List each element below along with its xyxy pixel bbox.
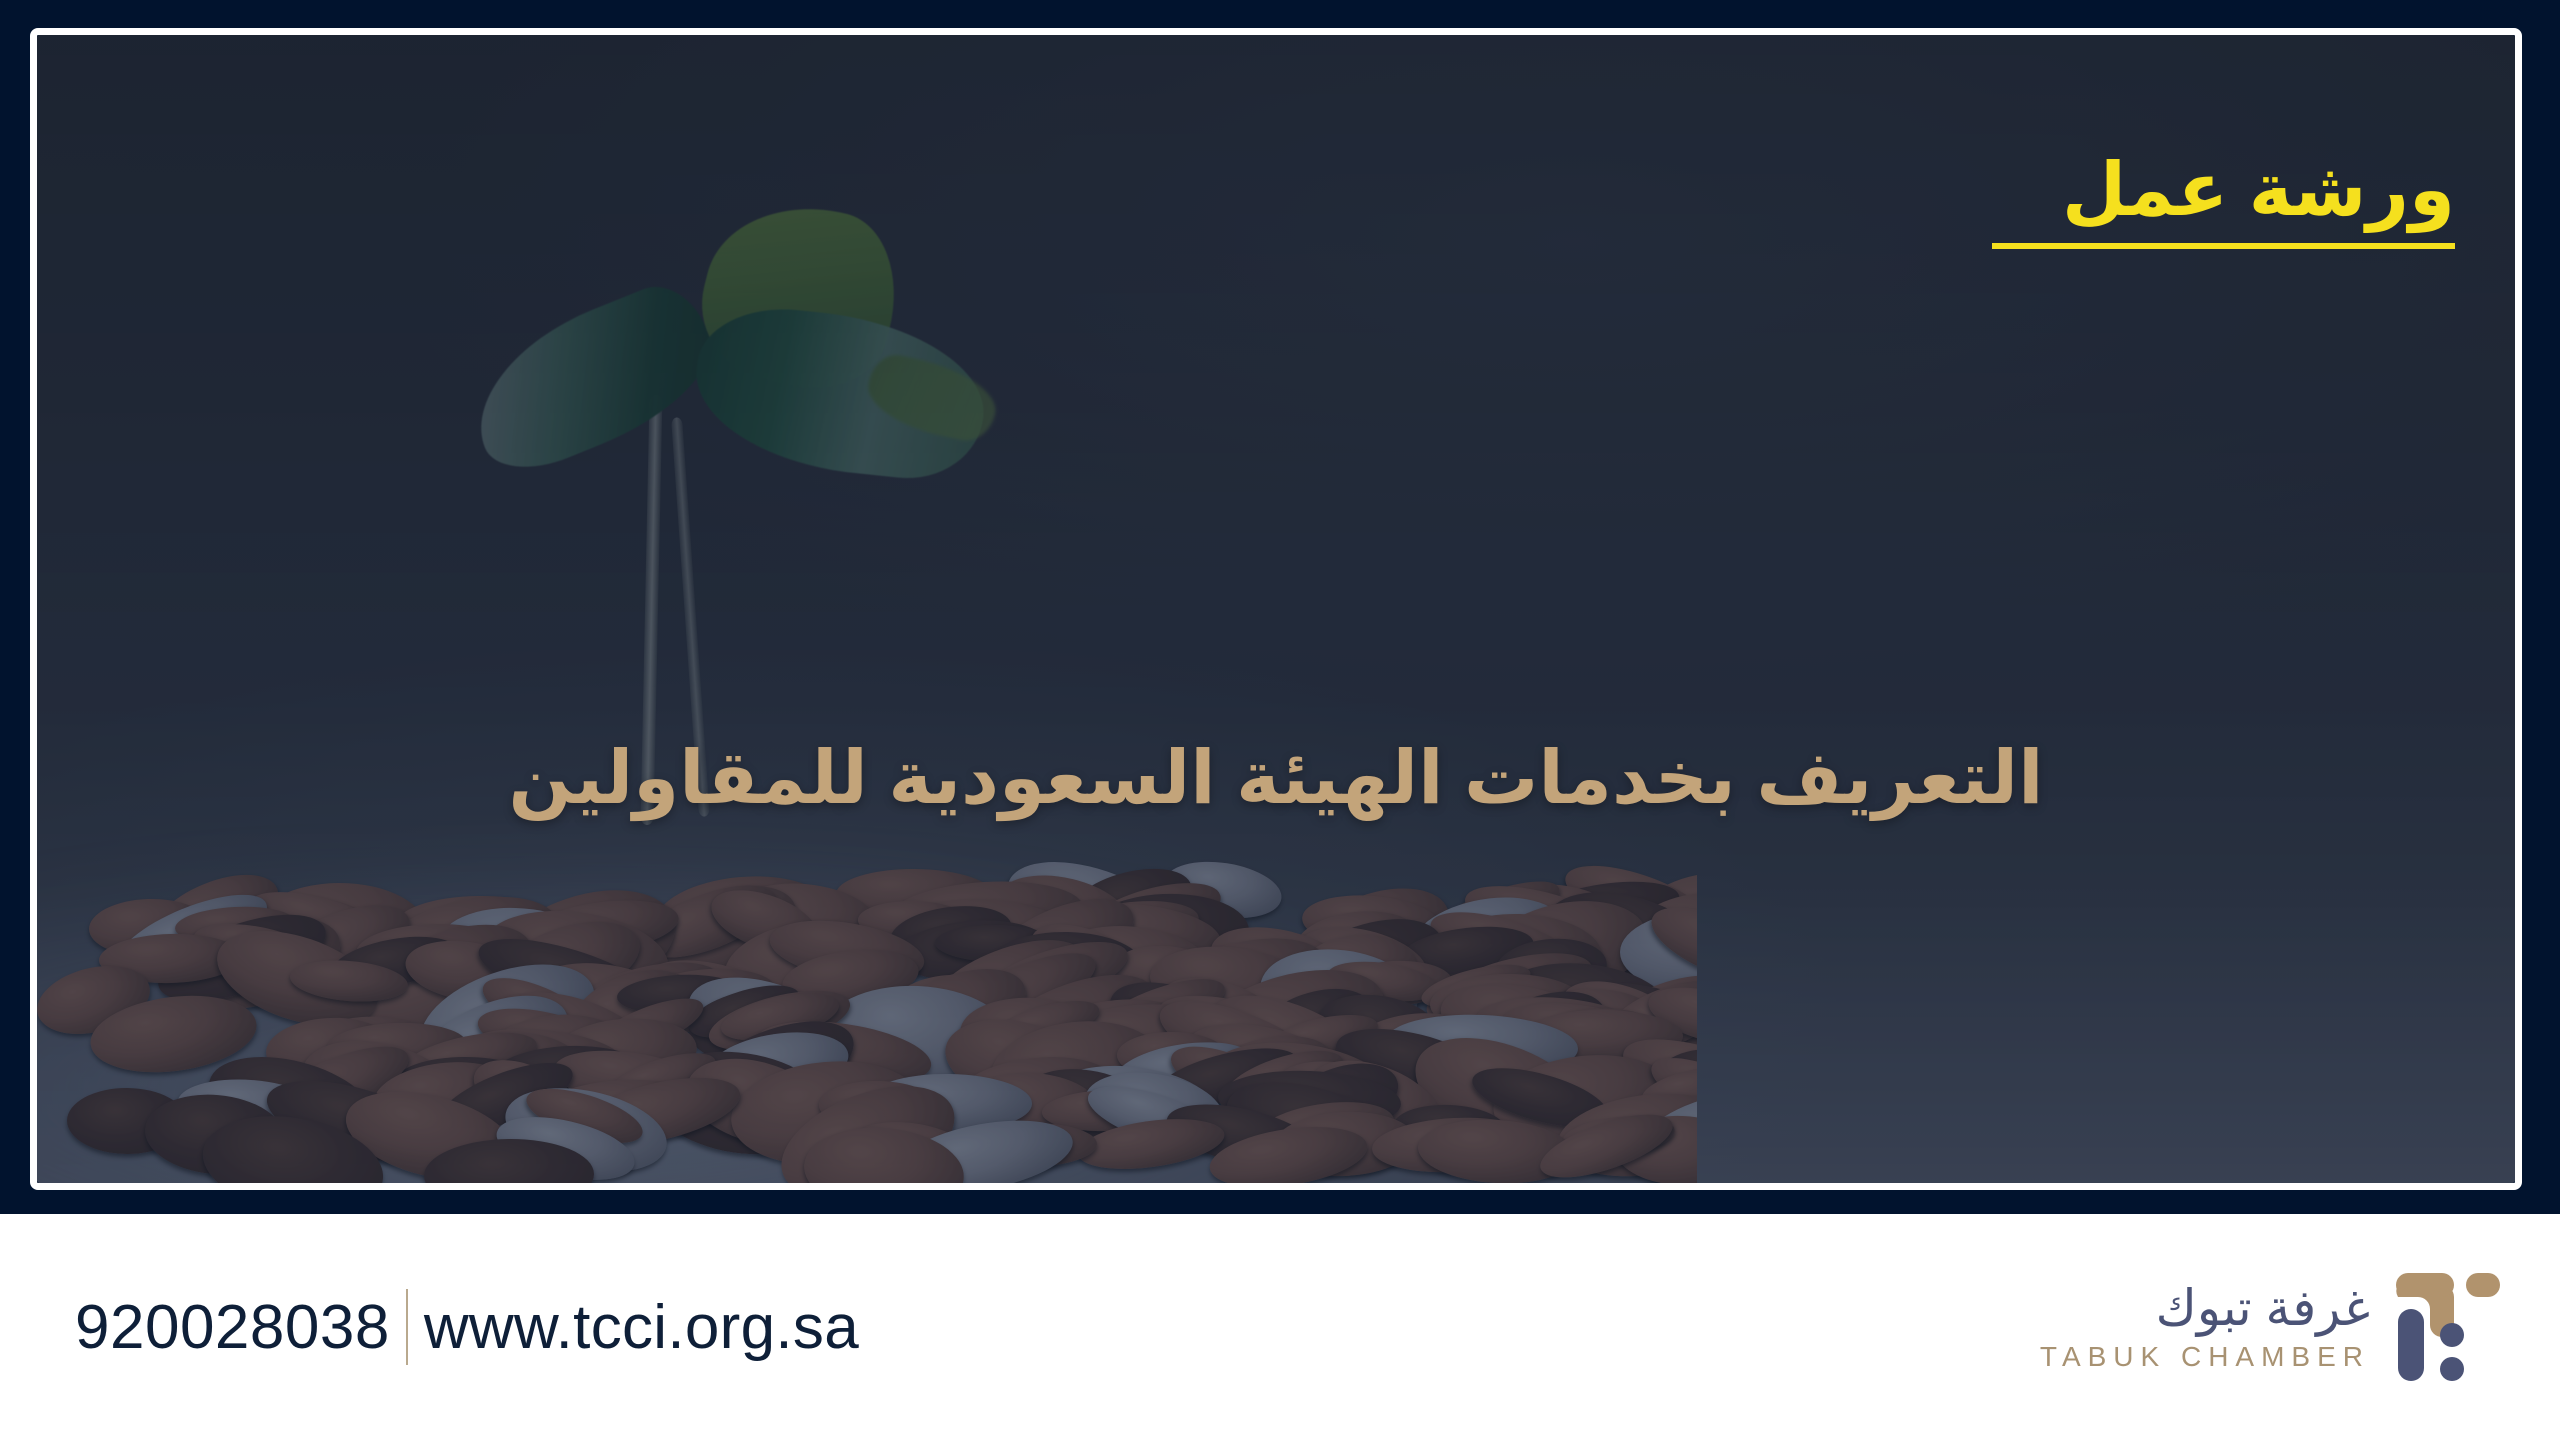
website-url[interactable]: www.tcci.org.sa	[424, 1292, 859, 1363]
contact-info: 920028038 www.tcci.org.sa	[75, 1289, 859, 1365]
page-title: التعريف بخدمات الهيئة السعودية للمقاولين	[37, 735, 2515, 820]
banner-image-area: ورشة عمل التعريف بخدمات الهيئة السعودية …	[37, 35, 2515, 1183]
contact-divider	[406, 1289, 408, 1365]
kicker-container: ورشة عمل	[1992, 151, 2455, 249]
logo-arabic-name: غرفة تبوك	[2156, 1283, 2370, 1333]
footer-bar: 920028038 www.tcci.org.sa غرفة تبوك TABU…	[0, 1214, 2560, 1440]
tabuk-chamber-mark-icon	[2396, 1271, 2500, 1383]
tabuk-chamber-logo: غرفة تبوك TABUK CHAMBER	[2040, 1271, 2500, 1383]
kicker-label: ورشة عمل	[1992, 151, 2455, 249]
logo-english-name: TABUK CHAMBER	[2040, 1343, 2370, 1371]
logo-wordmark: غرفة تبوك TABUK CHAMBER	[2040, 1283, 2370, 1371]
phone-number[interactable]: 920028038	[75, 1292, 390, 1363]
poster-root: ورشة عمل التعريف بخدمات الهيئة السعودية …	[0, 0, 2560, 1440]
